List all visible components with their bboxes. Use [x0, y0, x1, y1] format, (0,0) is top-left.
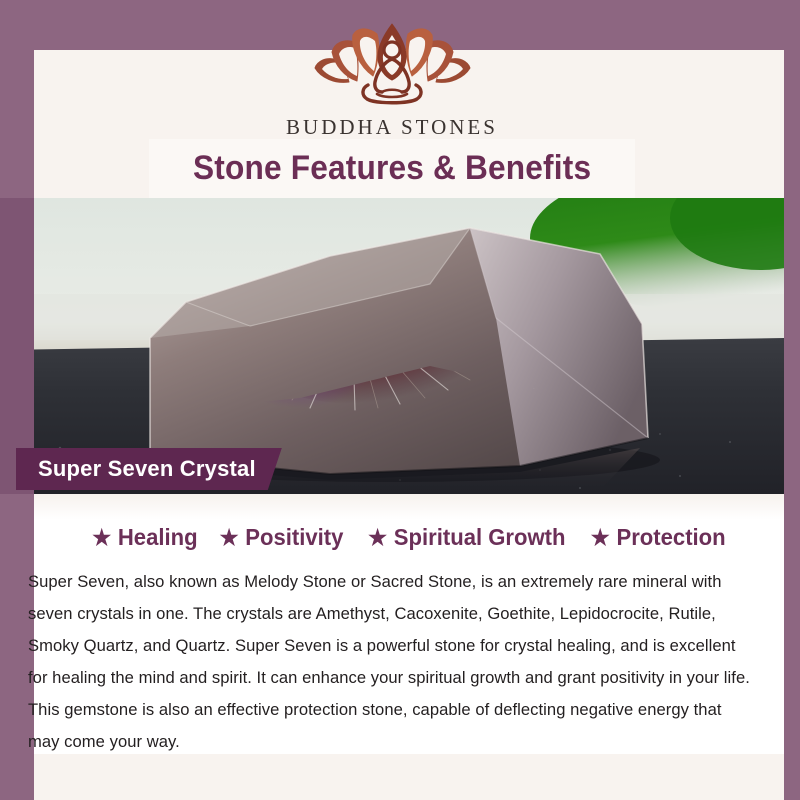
product-caption-label: Super Seven Crystal [38, 456, 256, 482]
benefit-item-protection: ★ Protection [582, 524, 734, 551]
benefits-row: ★ Healing ★ Positivity ★ Spiritual Growt… [34, 524, 784, 551]
benefit-item-positivity: ★ Positivity [211, 524, 352, 551]
card-content: BUDDHA STONES [0, 0, 800, 800]
benefit-label: Positivity [246, 524, 344, 551]
benefit-label: Healing [117, 524, 197, 551]
photo-left-accent-bar-lower [0, 494, 34, 516]
heading-band: Stone Features & Benefits [149, 139, 635, 198]
benefit-item-healing: ★ Healing [83, 524, 206, 551]
star-icon: ★ [92, 527, 111, 549]
benefit-label: Spiritual Growth [394, 524, 566, 551]
star-icon: ★ [220, 527, 239, 549]
benefit-label: Protection [616, 524, 725, 551]
page-title: Stone Features & Benefits [193, 149, 591, 188]
benefit-item-spiritual-growth: ★ Spiritual Growth [360, 524, 575, 551]
product-caption: Super Seven Crystal [16, 448, 282, 490]
lotus-meditation-figure-icon [305, 22, 480, 108]
description-panel-fade [34, 494, 784, 520]
infographic-card: BUDDHA STONES [0, 0, 800, 800]
star-icon: ★ [368, 527, 387, 549]
description-text: Super Seven, also known as Melody Stone … [28, 566, 756, 758]
brand-logo: BUDDHA STONES [0, 22, 784, 140]
star-icon: ★ [591, 527, 610, 549]
brand-name: BUDDHA STONES [286, 115, 498, 140]
